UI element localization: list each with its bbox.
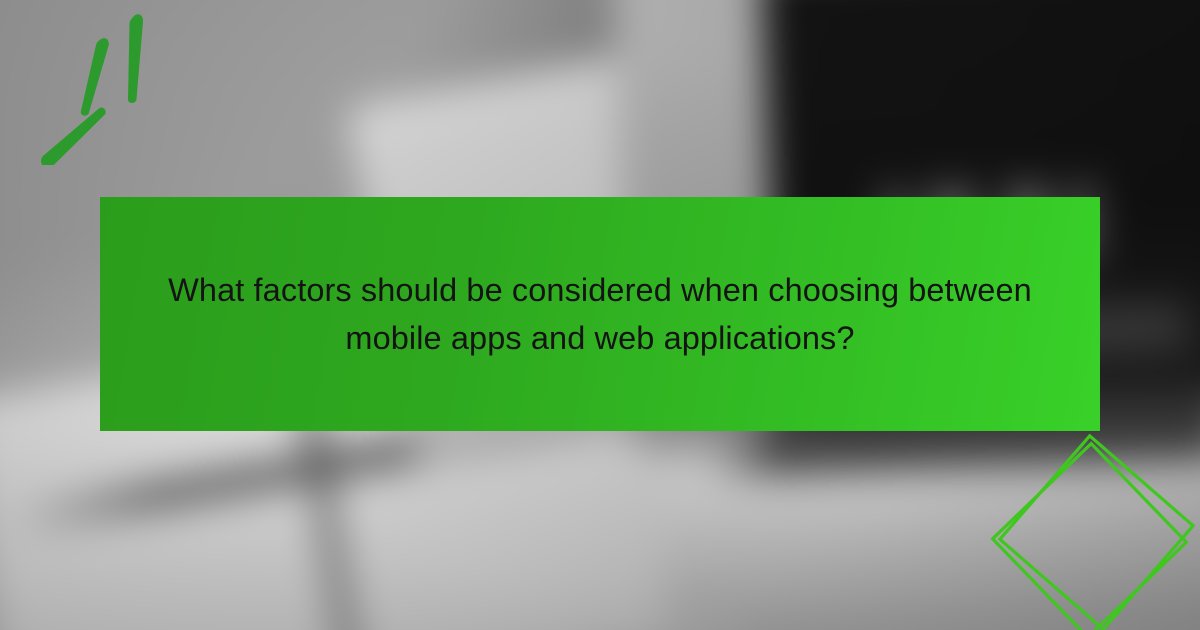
headline-banner: What factors should be considered when c…	[100, 197, 1100, 431]
starburst-icon	[0, 0, 190, 165]
headline-text: What factors should be considered when c…	[160, 266, 1040, 362]
social-card-canvas: What factors should be considered when c…	[0, 0, 1200, 630]
starburst-stroke	[79, 36, 110, 117]
starburst-stroke	[128, 14, 143, 103]
decor-square-front	[993, 444, 1187, 630]
overlapping-squares-decoration	[985, 420, 1200, 630]
decor-square-back	[1000, 436, 1193, 629]
starburst-stroke	[38, 99, 108, 165]
